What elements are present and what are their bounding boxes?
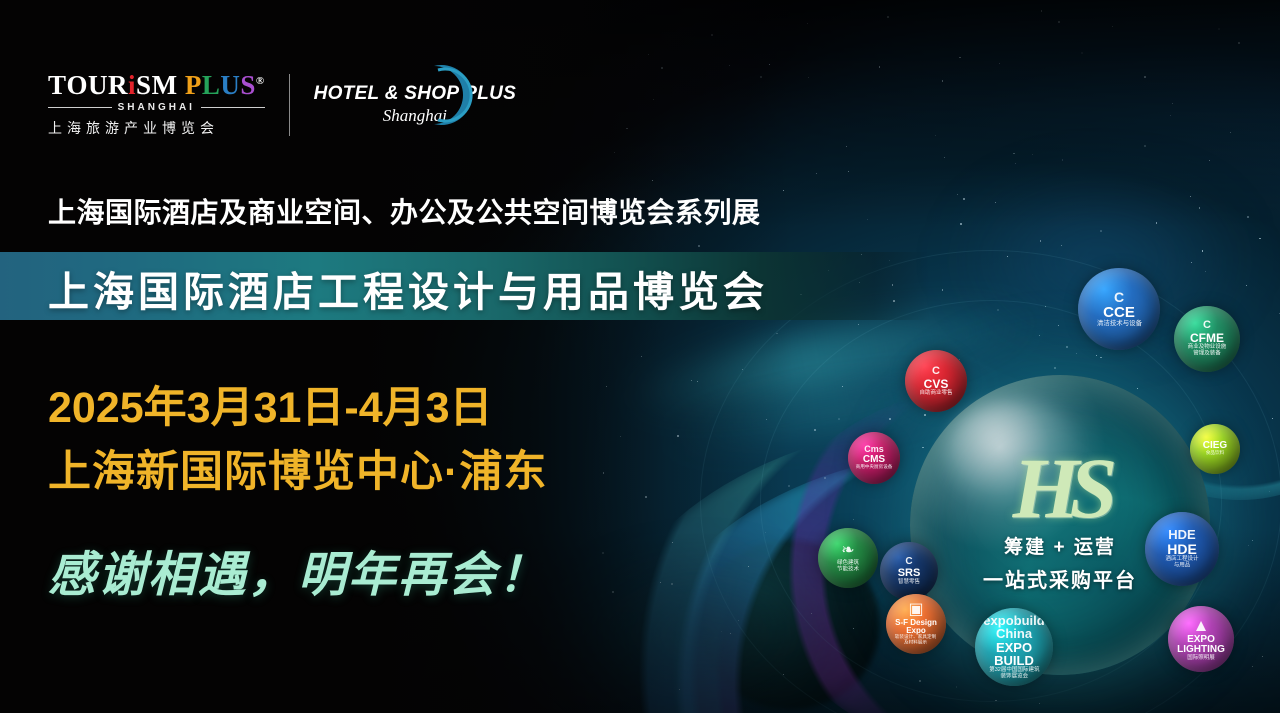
- badge-srs: CSRS智慧零售: [880, 542, 938, 600]
- rule-right: [201, 107, 265, 108]
- event-slogan: 感谢相遇，明年再会！: [48, 535, 548, 605]
- series-title: 上海国际酒店及商业空间、办公及公共空间博览会系列展: [48, 191, 761, 231]
- badge-expolighting: ▲EXPO LIGHTING国际照明展: [1168, 606, 1234, 672]
- badge-sub-expolighting: 国际照明展: [1187, 655, 1215, 661]
- badge-mark-hde: HDE: [1168, 528, 1195, 541]
- badge-mark-sfde: ▣: [908, 602, 923, 618]
- badge-cms: CmsCMS商用中央厨房设备: [848, 432, 900, 484]
- badge-name-cvs: CVS: [924, 378, 949, 390]
- hs-monogram: HS: [1013, 451, 1108, 527]
- badge-mark-cms: Cms: [864, 445, 884, 454]
- badge-sub-sfde: 软装设计、家具定制 及材料展示: [895, 635, 936, 646]
- badge-sfde: ▣S-F Design Expo软装设计、家具定制 及材料展示: [886, 594, 946, 654]
- event-venue: 上海新国际博览中心·浦东: [48, 437, 547, 499]
- badge-sub-cms: 商用中央厨房设备: [856, 465, 893, 470]
- rule-left: [48, 107, 112, 108]
- badge-mark-expolighting: ▲: [1193, 617, 1210, 634]
- badge-name-expolighting: EXPO LIGHTING: [1168, 635, 1234, 655]
- tourism-plus-chinese: 上海旅游产业博览会: [48, 118, 265, 138]
- badge-name-srs: SRS: [898, 568, 921, 579]
- badge-sub-srs: 智慧零售: [898, 579, 920, 585]
- logo-hotel-shop-plus: HOTEL & SHOP PLUS Shanghai: [314, 84, 517, 127]
- badge-mark-cce: C: [1114, 290, 1124, 304]
- badge-mark-expobuild: expobuild China: [975, 614, 1053, 640]
- badge-green: ❧绿色建筑 节能技术: [818, 528, 878, 588]
- badge-cfme: CCFME商业及物业设施 管理及装备: [1174, 306, 1240, 372]
- badge-hde: HDEHDE酒店工程设计 与用品: [1145, 512, 1219, 586]
- badge-cvs: CCVS自助商业零售: [905, 350, 967, 412]
- logo-tourism-plus: TOURiSM PLUS® SHANGHAI 上海旅游产业博览会: [48, 72, 265, 138]
- tourism-plus-city: SHANGHAI: [118, 102, 195, 113]
- event-date: 2025年3月31日-4月3日: [48, 373, 493, 435]
- badge-cce: CCCE清洁技术与设备: [1078, 268, 1160, 350]
- header-logos: TOURiSM PLUS® SHANGHAI 上海旅游产业博览会 HOTEL &…: [48, 72, 516, 138]
- badge-sub-cce: 清洁技术与设备: [1096, 320, 1141, 327]
- badge-mark-srs: C: [905, 557, 912, 567]
- sphere-tagline-2: 一站式采购平台: [983, 564, 1137, 593]
- logo-divider: [289, 74, 290, 136]
- tourism-plus-city-rule: SHANGHAI: [48, 102, 265, 113]
- event-poster: HS 筹建 + 运营 一站式采购平台 CCCE清洁技术与设备CCFME商业及物业…: [0, 0, 1280, 713]
- badge-sub-hde: 酒店工程设计 与用品: [1165, 557, 1198, 570]
- tourism-plus-wordmark: TOURiSM PLUS®: [48, 72, 265, 99]
- badge-sub-cfme: 商业及物业设施 管理及装备: [1188, 345, 1227, 358]
- badge-name-expobuild: EXPO BUILD: [975, 641, 1053, 667]
- badge-name-cfme: CFME: [1190, 332, 1224, 344]
- badge-cieg: CIEG食品饮料: [1190, 424, 1240, 474]
- badge-mark-cvs: C: [932, 366, 940, 377]
- badge-sub-green: 绿色建筑 节能技术: [837, 560, 859, 573]
- badge-sub-expobuild: 第32届中国国际建筑 装饰展览会: [989, 667, 1039, 680]
- badge-name-sfde: S-F Design Expo: [886, 619, 946, 635]
- badge-mark-cfme: C: [1203, 320, 1211, 331]
- badge-sub-cieg: 食品饮料: [1206, 451, 1224, 456]
- badge-sub-cvs: 自助商业零售: [919, 390, 952, 396]
- badge-name-cce: CCE: [1103, 305, 1135, 320]
- badge-name-hde: HDE: [1167, 542, 1197, 556]
- sphere-tagline-1: 筹建 + 运营: [1004, 532, 1116, 559]
- badge-mark-green: ❧: [841, 543, 854, 559]
- swirl-arc-icon: [414, 58, 488, 132]
- badge-expobuild: expobuild ChinaEXPO BUILD第32届中国国际建筑 装饰展览…: [975, 608, 1053, 686]
- banner-title: 上海国际酒店工程设计与用品博览会: [48, 258, 768, 318]
